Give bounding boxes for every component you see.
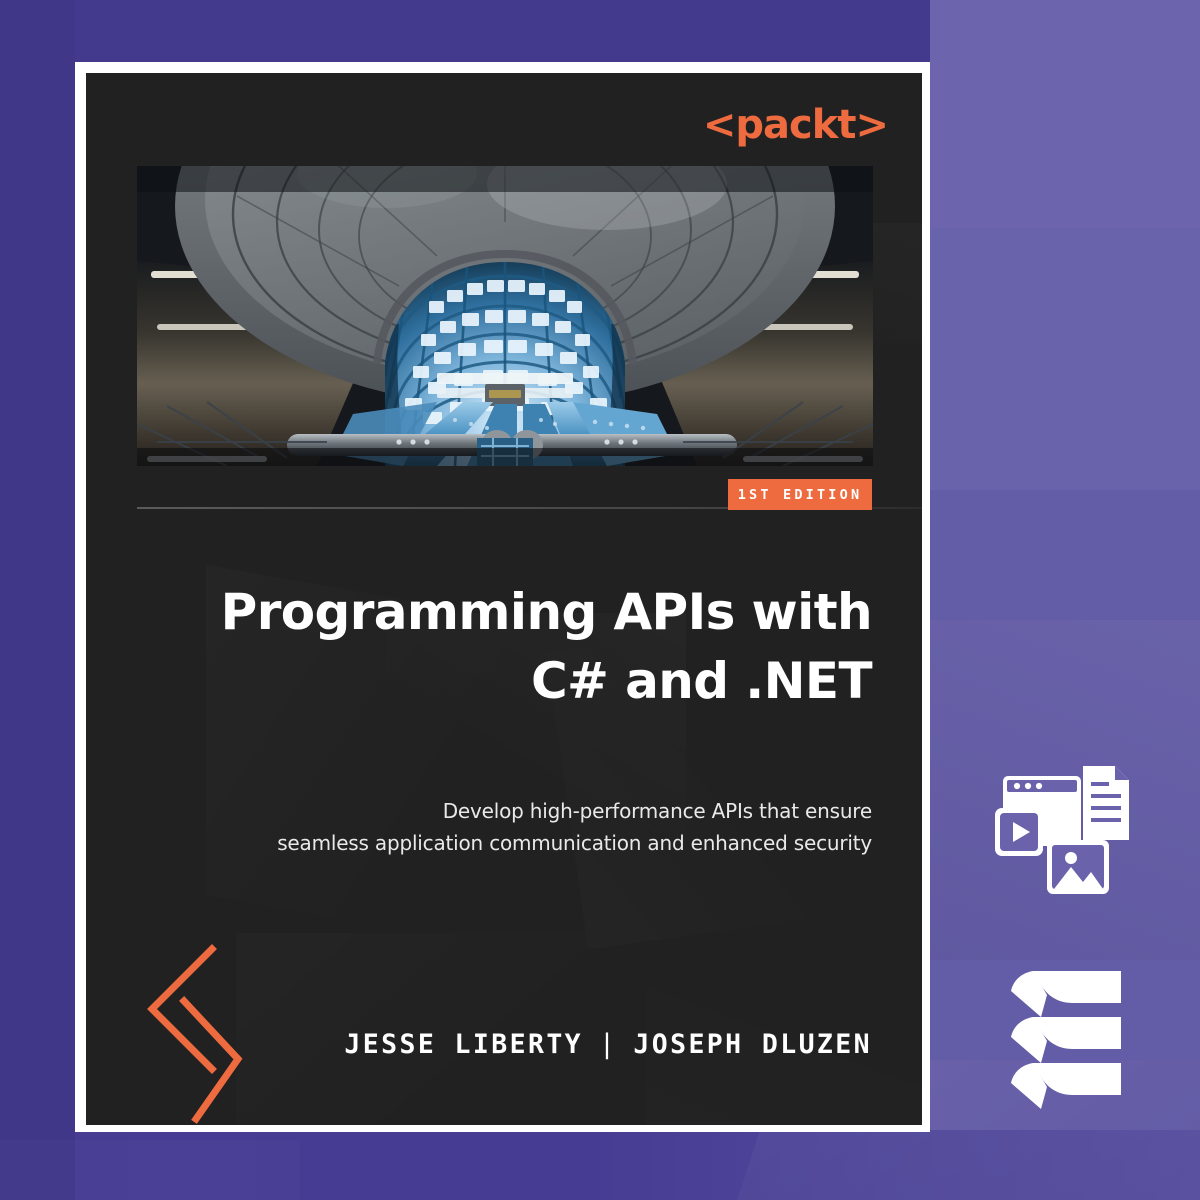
book-subtitle-line-1: Develop high-performance APIs that ensur… [146,795,872,827]
book-subtitle-line-2: seamless application communication and e… [146,827,872,859]
edition-badge: 1ST EDITION [728,479,872,510]
book-cover[interactable]: <packt> [86,73,922,1125]
video-play-icon [995,808,1043,856]
book-title-line-1: Programming APIs with [146,578,872,647]
document-icon [1083,766,1129,840]
book-authors: JESSE LIBERTY|JOSEPH DLUZEN [146,1029,872,1060]
book-title: Programming APIs with C# and .NET [146,578,872,715]
bg-facet-1 [930,0,1200,228]
e-brand-logo [995,955,1155,1115]
book-title-line-2: C# and .NET [146,647,872,716]
author-name-second: JOSEPH DLUZEN [633,1029,872,1060]
bg-facet-2 [930,228,1200,490]
author-separator: | [583,1029,633,1060]
underground-station-photo [137,166,873,466]
media-content-icon [995,758,1147,898]
packt-logo: <packt> [703,105,888,145]
author-name-first: JESSE LIBERTY [344,1029,583,1060]
book-subtitle: Develop high-performance APIs that ensur… [146,795,872,860]
screenshot-canvas: <packt> [0,0,1200,1200]
packt-s-chevron-logo [138,941,248,1125]
bg-highlight-bottom [0,1140,300,1200]
bg-facet-5 [0,0,75,1200]
image-thumbnail-icon [1047,840,1109,894]
